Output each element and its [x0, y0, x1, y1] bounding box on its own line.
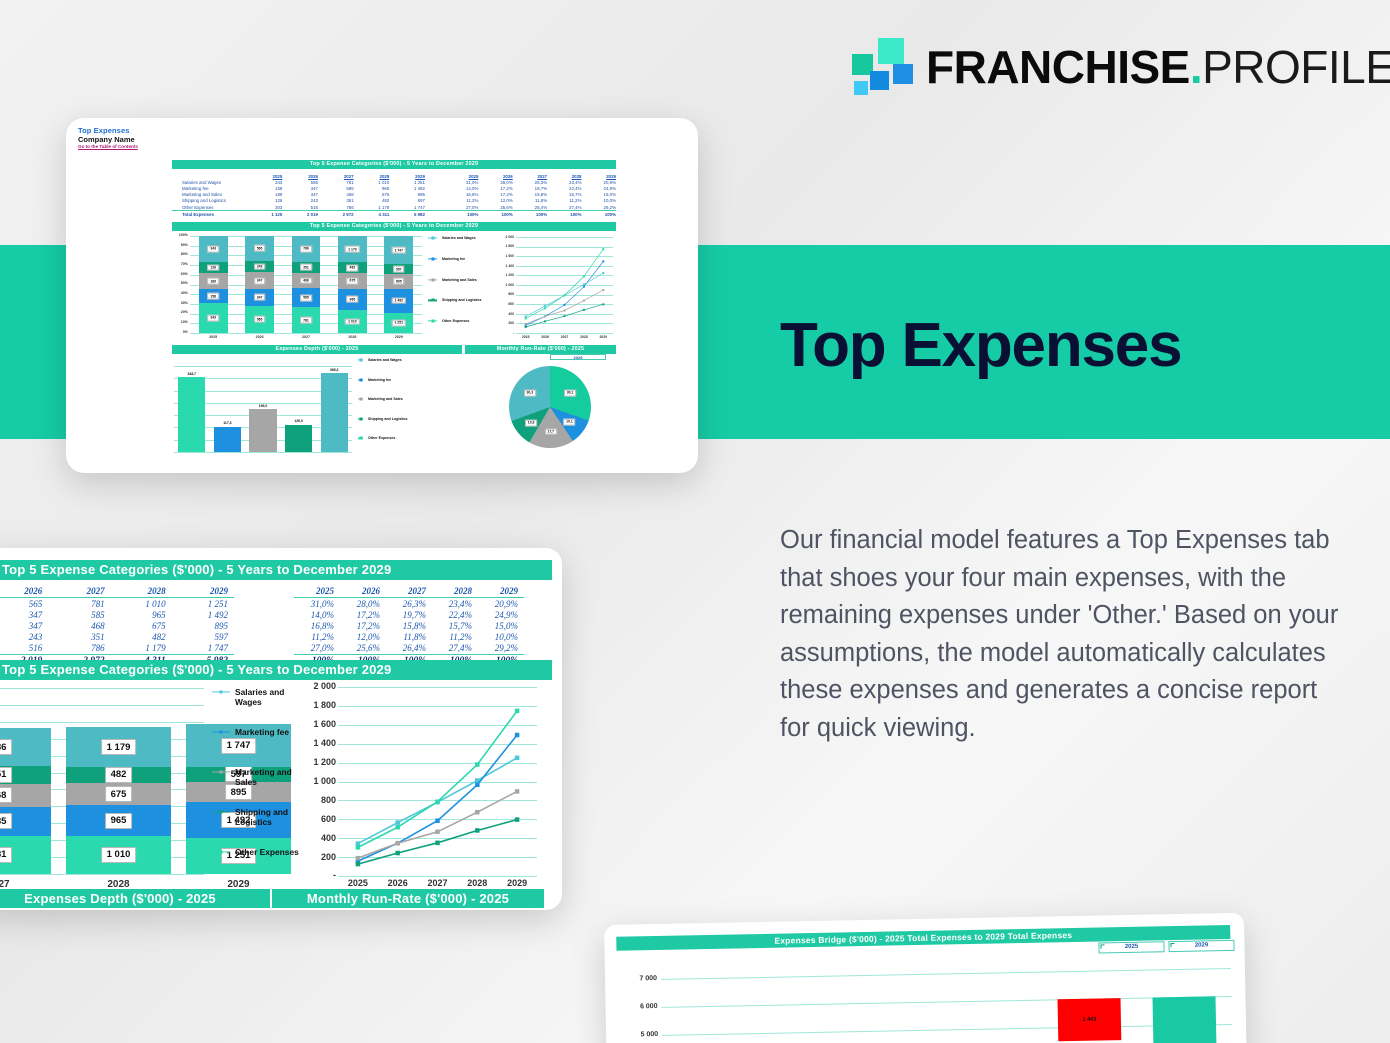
- table-body: Salaries and Wages3435657811 0101 25131,…: [172, 179, 616, 218]
- legend-label: Other Expenses: [442, 319, 469, 323]
- y-tick: 70%: [181, 262, 188, 266]
- bridge-legend-box: 2025: [1098, 941, 1164, 953]
- legend-marker: [358, 397, 363, 401]
- spacer: [425, 204, 444, 211]
- total-pct: 100%: [581, 211, 616, 218]
- segment-label: 1 747: [392, 247, 407, 254]
- value-cell: 786: [318, 204, 354, 211]
- total-pct: 100%: [444, 211, 478, 218]
- legend-label: Marketing and Sales: [235, 768, 302, 787]
- slide-root: FRANCHISE.PROFILES Top Expenses Our fina…: [0, 0, 1390, 1043]
- value-cell: 468: [48, 620, 110, 631]
- gridline: [0, 874, 204, 875]
- y-tick: 5 000: [641, 1031, 659, 1038]
- segment-label: 1 492: [392, 297, 407, 304]
- pie-slice-label: 30,3: [524, 390, 536, 397]
- value-cell: 11,2%: [294, 632, 340, 643]
- table-total-row: Total Expenses1 1252 0192 9724 3115 9821…: [172, 211, 616, 218]
- depth-bar: [178, 377, 205, 452]
- bridge-bar-label: 1 443: [1082, 1017, 1096, 1023]
- table-row: Other Expenses3035167861 1791 74727,0%25…: [172, 204, 616, 211]
- legend-label: Salaries and Wages: [235, 688, 302, 707]
- x-tick: 2026: [256, 335, 264, 339]
- depth-bar: [249, 409, 276, 452]
- screenshot-card-bridge[interactable]: Expenses Bridge ($'000) - 2025 Total Exp…: [604, 913, 1247, 1043]
- x-tick: 2028: [467, 878, 487, 888]
- value-cell: 1 492: [172, 609, 234, 620]
- total-pct: 100%: [513, 211, 547, 218]
- x-tick: 2027: [302, 335, 310, 339]
- y-tick: 20%: [181, 310, 188, 314]
- legend-dot: [220, 811, 223, 814]
- stacked-bar-chart-overview: 0%10%20%30%40%50%60%70%80%90%100%3431581…: [172, 234, 422, 342]
- legend-marker: [212, 729, 230, 735]
- y-tick: 90%: [181, 243, 188, 247]
- y-tick: 80%: [181, 252, 188, 256]
- segment-label: 243: [254, 263, 266, 270]
- x-tick: 2029: [395, 335, 403, 339]
- banner-expense-categories-zoom-2: Top 5 Expense Categories ($'000) - 5 Yea…: [0, 660, 552, 680]
- segment-label: 126: [207, 264, 219, 271]
- sheet-company-name: Company Name: [78, 135, 698, 144]
- value-cell: 1 010: [111, 598, 172, 610]
- legend-marker: [212, 689, 230, 695]
- x-tick: 2026: [541, 335, 549, 339]
- legend-marker: [428, 278, 437, 282]
- x-tick: 2027: [561, 335, 569, 339]
- pie-slice-label: 10,1: [564, 419, 576, 426]
- x-tick: 2025: [522, 335, 530, 339]
- value-cell: 26,3%: [386, 598, 432, 610]
- gridline: [0, 705, 204, 706]
- legend-label: Shipping and Logistics: [235, 808, 302, 827]
- legend-dot: [359, 398, 362, 401]
- value-cell: 1 747: [389, 204, 425, 211]
- value-cell: 347: [0, 620, 48, 631]
- segment-label: 585: [300, 295, 312, 302]
- x-tick: 2027: [427, 878, 447, 888]
- legend-item: Shipping and Logistics: [212, 808, 302, 827]
- pie-slice-label: 10,9: [525, 419, 537, 426]
- value-cell: 1 747: [172, 643, 234, 655]
- legend-dot: [431, 257, 434, 260]
- value-cell: 16,8%: [294, 620, 340, 631]
- corner-marker-icon: [1170, 943, 1174, 947]
- banner-expense-categories-zoom: Top 5 Expense Categories ($'000) - 5 Yea…: [0, 560, 552, 580]
- table-head: 20252026202720282029: [294, 586, 524, 598]
- legend-marker: [358, 417, 363, 421]
- value-cell: 1 251: [172, 598, 234, 610]
- pct-cell: 26,4%: [513, 204, 547, 211]
- legend-marker: [212, 809, 230, 815]
- value-cell: 11,8%: [386, 632, 432, 643]
- gridline: [661, 968, 1231, 980]
- legend-item: Marketing fee: [212, 728, 302, 738]
- table-row: 14,0%17,2%19,7%22,4%24,9%: [294, 609, 524, 620]
- legend-dot: [220, 691, 223, 694]
- column-header-2028: 2028: [432, 586, 478, 598]
- y-tick: 40%: [181, 291, 188, 295]
- value-cell: 25,6%: [340, 643, 386, 655]
- segment-label: 1 010: [345, 318, 360, 325]
- value-cell: 565: [0, 598, 48, 610]
- table-body: 31,0%28,0%26,3%23,4%20,9%14,0%17,2%19,7%…: [294, 598, 524, 667]
- segment-label: 468: [300, 277, 312, 284]
- bridge-legend-box: 2029: [1168, 940, 1234, 952]
- segment-label: 1 179: [101, 739, 137, 755]
- value-cell: 11,2%: [432, 632, 478, 643]
- value-cell: 22,4%: [432, 609, 478, 620]
- value-cell: 27,0%: [294, 643, 340, 655]
- gridline: [662, 1024, 1232, 1036]
- bridge-legend-label: 2029: [1169, 942, 1233, 949]
- corner-marker-icon: [1100, 944, 1104, 948]
- pie-slice-label: 30,1: [564, 389, 576, 396]
- y-tick: 30%: [181, 301, 188, 305]
- segment-label: 895: [393, 278, 405, 285]
- total-value: 2 972: [318, 211, 354, 218]
- legend-item: Marketing and Sales: [212, 768, 302, 787]
- table-row: 347468675895: [0, 620, 234, 631]
- table-row: 11,2%12,0%11,8%11,2%10,0%: [294, 632, 524, 643]
- value-cell: 1 179: [111, 643, 172, 655]
- line-chart-overview: 2 0001 8001 6001 4001 2001 0008006004002…: [496, 234, 616, 342]
- spacer: [425, 211, 444, 218]
- gridline: [662, 996, 1232, 1008]
- column-header-2028: 2028: [111, 586, 172, 598]
- segment-label: 482: [347, 265, 359, 272]
- gridline: [0, 722, 204, 723]
- logo-dot: .: [1190, 41, 1202, 93]
- legend-dot: [359, 417, 362, 420]
- y-tick: 60%: [181, 272, 188, 276]
- screenshot-card-overview[interactable]: Top Expenses Company Name Go to the Tabl…: [66, 118, 698, 473]
- legend-item: Salaries and Wages: [212, 688, 302, 707]
- total-value: 5 982: [389, 211, 425, 218]
- value-cell: 243: [0, 632, 48, 643]
- legend-label: Marketing fee: [368, 378, 391, 382]
- segment-label: 965: [105, 813, 133, 829]
- segment-label: 189: [207, 278, 219, 285]
- segment-label: 565: [254, 245, 266, 252]
- value-cell: 26,4%: [386, 643, 432, 655]
- total-value: 2 019: [282, 211, 318, 218]
- legend-item: Marketing fee: [428, 257, 490, 261]
- sheet-header: Top Expenses Company Name Go to the Tabl…: [66, 118, 698, 149]
- value-cell: 482: [111, 632, 172, 643]
- value-cell: 23,4%: [432, 598, 478, 610]
- expense-table-grid: 2025202620272028202920252026202720282029…: [172, 173, 616, 218]
- value-cell: 675: [111, 620, 172, 631]
- line-series-svg: [294, 684, 540, 896]
- expenses-depth-chart-overview: 348,7117,3199,0126,0365,3: [174, 358, 352, 456]
- screenshot-card-zoom[interactable]: Top 5 Expense Categories ($'000) - 5 Yea…: [0, 548, 562, 910]
- pct-cell: 29,2%: [581, 204, 616, 211]
- table-row: 27,0%25,6%26,4%27,4%29,2%: [294, 643, 524, 655]
- value-cell: 17,2%: [340, 609, 386, 620]
- legend-dot: [220, 851, 223, 854]
- segment-label: 158: [207, 293, 219, 300]
- depth-bar: [214, 427, 241, 452]
- value-cell: 17,2%: [340, 620, 386, 631]
- table-row: 243351482597: [0, 632, 234, 643]
- segment-label: 565: [254, 316, 266, 323]
- line-series-svg: [496, 234, 616, 342]
- legend-label: Other Expenses: [235, 848, 299, 858]
- bridge-legend: 20252029: [1098, 940, 1234, 954]
- runrate-year-box: 2029: [550, 354, 606, 360]
- legend-dot: [359, 359, 362, 362]
- segment-label: 468: [0, 787, 12, 803]
- total-pct: 100%: [547, 211, 581, 218]
- banner-expenses-depth: Expenses Depth ($'000) - 2025: [172, 345, 462, 354]
- value-cell: 965: [111, 609, 172, 620]
- value-cell: 19,7%: [386, 609, 432, 620]
- table-grid: 2025202620272028202931,0%28,0%26,3%23,4%…: [294, 586, 524, 666]
- depth-bar-label: 117,3: [223, 421, 231, 425]
- pie-slice-label: 17,7: [545, 428, 557, 435]
- brand-logo: FRANCHISE.PROFILES: [852, 38, 1390, 96]
- segment-label: 347: [254, 294, 266, 301]
- value-cell: 24,9%: [478, 609, 524, 620]
- x-tick: 2025: [348, 878, 368, 888]
- stacked-chart-legend-overview: Salaries and WagesMarketing feeMarketing…: [428, 236, 490, 340]
- banner-monthly-runrate-zoom: Monthly Run-Rate ($'000) - 2025: [272, 889, 544, 908]
- segment-label: 1 179: [345, 246, 360, 253]
- y-tick: 0%: [183, 330, 188, 334]
- total-value: 4 311: [354, 211, 390, 218]
- value-cell: 15,0%: [478, 620, 524, 631]
- expense-table-overview: 2025202620272028202920252026202720282029…: [172, 173, 616, 219]
- legend-label: Salaries and Wages: [442, 236, 476, 240]
- legend-dot: [431, 278, 434, 281]
- legend-item: Other Expenses: [428, 319, 490, 323]
- y-tick: 100%: [179, 233, 188, 237]
- legend-label: Marketing fee: [235, 728, 289, 738]
- legend-item: Other Expenses: [212, 848, 302, 858]
- runrate-pie-chart-overview: 30,110,117,710,930,3: [466, 358, 616, 456]
- column-header-2029: 2029: [172, 586, 234, 598]
- gridline: [0, 688, 204, 689]
- legend-marker: [428, 236, 437, 240]
- legend-label: Marketing and Sales: [442, 278, 477, 282]
- depth-bar-label: 348,7: [188, 372, 197, 376]
- segment-label: 482: [105, 767, 133, 783]
- legend-dot: [359, 378, 362, 381]
- gridline: [174, 452, 352, 453]
- x-tick: 2029: [600, 335, 608, 339]
- x-tick: 2028: [348, 335, 356, 339]
- column-header-2025: 2025: [294, 586, 340, 598]
- legend-marker: [212, 769, 230, 775]
- legend-label: Shipping and Logistics: [368, 417, 408, 421]
- row-label: Other Expenses: [172, 204, 247, 211]
- table-grid: 20262027202820295657811 0101 25134758596…: [0, 586, 234, 666]
- segment-label: 1 010: [101, 847, 137, 863]
- legend-label: Shipping and Logistics: [442, 298, 482, 302]
- value-cell: 31,0%: [294, 598, 340, 610]
- value-cell: 20,9%: [478, 598, 524, 610]
- value-cell: 29,2%: [478, 643, 524, 655]
- y-tick: 6 000: [640, 1003, 658, 1010]
- value-cell: 597: [172, 632, 234, 643]
- segment-label: 781: [300, 317, 312, 324]
- value-cell: 585: [48, 609, 110, 620]
- depth-bar-label: 199,0: [259, 404, 268, 408]
- value-cell: 351: [48, 632, 110, 643]
- value-cell: 12,0%: [340, 632, 386, 643]
- page-description: Our financial model features a Top Expen…: [780, 522, 1346, 747]
- line-chart-zoom: 2 0001 8001 6001 4001 2001 0008006004002…: [294, 684, 540, 896]
- value-cell: 14,0%: [294, 609, 340, 620]
- logo-secondary: PROFILES: [1202, 41, 1390, 93]
- legend-item: Salaries and Wages: [358, 358, 420, 362]
- legend-item: Shipping and Logistics: [358, 417, 420, 421]
- banner-expenses-depth-zoom: Expenses Depth ($'000) - 2025: [0, 889, 270, 908]
- legend-item: Salaries and Wages: [428, 236, 490, 240]
- legend-label: Marketing fee: [442, 257, 465, 261]
- value-cell: 15,7%: [432, 620, 478, 631]
- depth-bar-label: 365,3: [330, 368, 339, 372]
- legend-marker: [358, 436, 363, 440]
- legend-item: Marketing and Sales: [428, 278, 490, 282]
- y-tick: 7 000: [639, 975, 657, 982]
- legend-item: Marketing fee: [358, 378, 420, 382]
- segment-label: 597: [393, 266, 405, 273]
- segment-label: 675: [105, 786, 133, 802]
- value-cell: 27,4%: [432, 643, 478, 655]
- x-tick: 2029: [507, 878, 527, 888]
- bridge-bar: 1 443: [1058, 999, 1121, 1042]
- value-cell: 786: [48, 643, 110, 655]
- x-tick: 2025: [209, 335, 217, 339]
- segment-label: 675: [347, 278, 359, 285]
- legend-item: Shipping and Logistics: [428, 298, 490, 302]
- legend-marker: [358, 378, 363, 382]
- banner-expense-categories-2: Top 5 Expense Categories ($'000) - 5 Yea…: [172, 222, 616, 231]
- value-cell: 516: [282, 204, 318, 211]
- table-row: 31,0%28,0%26,3%23,4%20,9%: [294, 598, 524, 610]
- table-row: 5657811 0101 251: [0, 598, 234, 610]
- legend-dot: [220, 771, 223, 774]
- legend-label: Other Expenses: [368, 436, 395, 440]
- legend-item: Marketing and Sales: [358, 397, 420, 401]
- bridge-legend-label: 2025: [1099, 943, 1163, 950]
- value-cell: 1 179: [354, 204, 390, 211]
- segment-label: 343: [207, 246, 219, 253]
- total-value: 1 125: [247, 211, 283, 218]
- column-header-2027: 2027: [48, 586, 110, 598]
- table-header-row: 20252026202720282029: [294, 586, 524, 598]
- legend-item: Other Expenses: [358, 436, 420, 440]
- value-cell: 347: [0, 609, 48, 620]
- column-header-2029: 2029: [478, 586, 524, 598]
- bridge-waterfall-chart: 4 0005 0006 0007 0007064711 443: [617, 953, 1233, 1043]
- segment-label: 786: [300, 245, 312, 252]
- depth-chart-legend-overview: Salaries and WagesMarketing feeMarketing…: [358, 358, 420, 456]
- banner-monthly-runrate: Monthly Run-Rate ($'000) - 2025: [465, 345, 616, 354]
- segment-label: 585: [0, 813, 12, 829]
- stacked-bar-chart-zoom: 78158546835178620271 0109656754821 17920…: [0, 684, 204, 896]
- value-cell: 781: [48, 598, 110, 610]
- segment-label: 343: [207, 315, 219, 322]
- bridge-bar: [1153, 996, 1217, 1043]
- legend-marker: [428, 319, 437, 323]
- x-tick: 2026: [388, 878, 408, 888]
- banner-expense-categories-1: Top 5 Expense Categories ($'000) - 5 Yea…: [172, 160, 616, 169]
- segment-label: 1 251: [392, 319, 407, 326]
- value-cell: 303: [247, 204, 283, 211]
- pct-cell: 25,6%: [478, 204, 512, 211]
- toc-link[interactable]: Go to the Table of Contents: [78, 144, 698, 149]
- legend-marker: [428, 257, 437, 261]
- total-pct: 100%: [478, 211, 512, 218]
- table-row: 3475859651 492: [0, 609, 234, 620]
- logo-primary: FRANCHISE: [926, 41, 1190, 93]
- legend-dot: [220, 731, 223, 734]
- segment-label: 351: [300, 264, 312, 271]
- stacked-chart-legend-zoom: Salaries and WagesMarketing feeMarketing…: [212, 688, 302, 888]
- y-tick: 50%: [181, 281, 188, 285]
- depth-bar: [321, 373, 348, 452]
- segment-label: 786: [0, 739, 12, 755]
- segment-label: 347: [254, 277, 266, 284]
- table-header-row: 2026202720282029: [0, 586, 234, 598]
- column-header-2026: 2026: [0, 586, 48, 598]
- table-head: 2026202720282029: [0, 586, 234, 598]
- value-cell: 10,0%: [478, 632, 524, 643]
- legend-marker: [428, 298, 437, 302]
- sheet-tab-title: Top Expenses: [78, 126, 698, 135]
- x-tick: 2028: [580, 335, 588, 339]
- pie-chart: [509, 366, 591, 448]
- brand-wordmark: FRANCHISE.PROFILES: [926, 40, 1390, 94]
- gridline: [190, 333, 422, 334]
- value-cell: 895: [172, 620, 234, 631]
- table-row: 5167861 1791 747: [0, 643, 234, 655]
- value-cell: 28,0%: [340, 598, 386, 610]
- value-cell: 15,8%: [386, 620, 432, 631]
- column-header-2027: 2027: [386, 586, 432, 598]
- segment-label: 965: [347, 296, 359, 303]
- total-label: Total Expenses: [172, 211, 247, 218]
- legend-dot: [431, 299, 434, 302]
- legend-dot: [359, 437, 362, 440]
- depth-bar: [285, 425, 312, 452]
- legend-marker: [212, 849, 230, 855]
- column-header-2026: 2026: [340, 586, 386, 598]
- pct-cell: 27,0%: [444, 204, 478, 211]
- page-title: Top Expenses: [780, 310, 1181, 381]
- squares-mark-icon: [852, 38, 908, 96]
- gridline: [174, 366, 352, 367]
- depth-bar-label: 126,0: [294, 419, 303, 423]
- table-row: 16,8%17,2%15,8%15,7%15,0%: [294, 620, 524, 631]
- legend-label: Marketing and Sales: [368, 397, 403, 401]
- value-cell: 516: [0, 643, 48, 655]
- legend-label: Salaries and Wages: [368, 358, 402, 362]
- segment-label: 781: [0, 847, 12, 863]
- table-body: 5657811 0101 2513475859651 4923474686758…: [0, 598, 234, 667]
- legend-dot: [431, 237, 434, 240]
- pct-cell: 27,4%: [547, 204, 581, 211]
- segment-label: 351: [0, 767, 12, 783]
- expense-percent-table-zoom: 2025202620272028202931,0%28,0%26,3%23,4%…: [294, 586, 524, 654]
- legend-marker: [358, 358, 363, 362]
- legend-dot: [431, 320, 434, 323]
- y-tick: 10%: [181, 320, 188, 324]
- expense-values-table-zoom: 20262027202820295657811 0101 25134758596…: [0, 586, 234, 654]
